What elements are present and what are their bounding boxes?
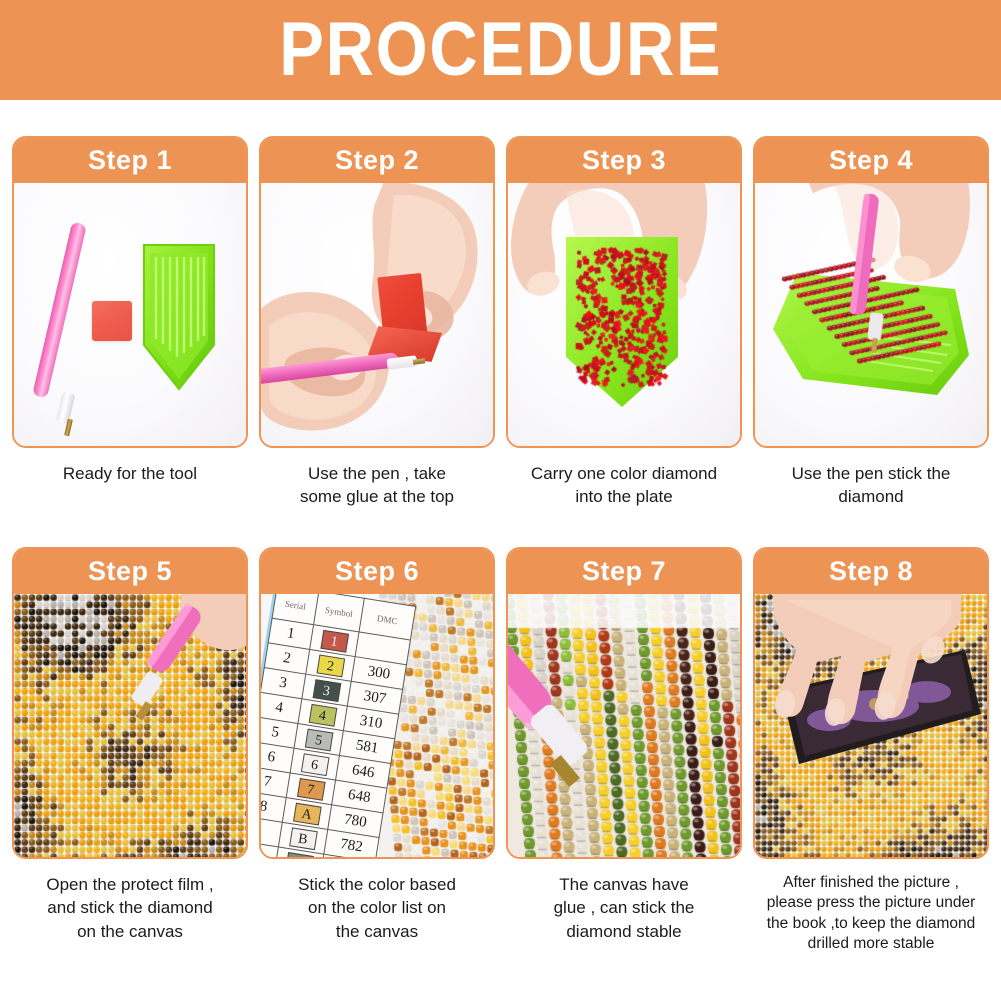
- hands-icon: [755, 594, 987, 857]
- red-diamonds-icon: [564, 235, 680, 411]
- step-caption-3: Carry one color diamond into the plate: [506, 462, 742, 509]
- step-cell-6: Step 6 Serial Symbol: [259, 547, 495, 955]
- step-header-2: Step 2: [261, 138, 493, 183]
- page-banner: PROCEDURE: [0, 0, 1001, 100]
- steps-grid: Step 1: [0, 136, 1001, 955]
- step-cell-1: Step 1: [12, 136, 248, 509]
- step-label-6: Step 6: [335, 556, 419, 587]
- step-header-4: Step 4: [755, 138, 987, 183]
- step-image-7: [508, 594, 740, 857]
- step-label-4: Step 4: [829, 145, 913, 176]
- step-cell-4: Step 4: [753, 136, 989, 509]
- step-image-2: [261, 183, 493, 446]
- step-card-5[interactable]: Step 5: [12, 547, 248, 859]
- step-label-5: Step 5: [88, 556, 172, 587]
- step-card-7[interactable]: Step 7: [506, 547, 742, 859]
- step-caption-4: Use the pen stick the diamond: [753, 462, 989, 509]
- pink-pen-icon: [14, 594, 246, 857]
- step-card-6[interactable]: Step 6 Serial Symbol: [259, 547, 495, 859]
- step-header-5: Step 5: [14, 549, 246, 594]
- pink-pen-icon: [508, 594, 740, 857]
- step-cell-8: Step 8: [753, 547, 989, 955]
- step-cell-3: Step 3: [506, 136, 742, 509]
- step-header-1: Step 1: [14, 138, 246, 183]
- step-caption-1: Ready for the tool: [12, 462, 248, 485]
- step-header-7: Step 7: [508, 549, 740, 594]
- step-image-4: [755, 183, 987, 446]
- step-caption-8: After finished the picture , please pres…: [753, 873, 989, 955]
- step-header-8: Step 8: [755, 549, 987, 594]
- step-caption-7: The canvas have glue , can stick the dia…: [506, 873, 742, 943]
- step-image-1: [14, 183, 246, 446]
- step-image-6: Serial Symbol DMC 1122300333074431055581…: [261, 594, 493, 857]
- step-cell-5: Step 5: [12, 547, 248, 955]
- step-label-7: Step 7: [582, 556, 666, 587]
- step-label-8: Step 8: [829, 556, 913, 587]
- step-image-5: [14, 594, 246, 857]
- step-caption-2: Use the pen , take some glue at the top: [259, 462, 495, 509]
- step-header-3: Step 3: [508, 138, 740, 183]
- step-caption-6: Stick the color based on the color list …: [259, 873, 495, 943]
- step-card-8[interactable]: Step 8: [753, 547, 989, 859]
- steps-row-1: Step 1: [12, 136, 989, 509]
- step-label-2: Step 2: [335, 145, 419, 176]
- step-cell-7: Step 7 The canvas: [506, 547, 742, 955]
- steps-row-2: Step 5: [12, 547, 989, 955]
- step-image-8: [755, 594, 987, 857]
- hands-icon: [261, 183, 493, 446]
- green-tray-icon: [140, 241, 218, 393]
- step-label-1: Step 1: [88, 145, 172, 176]
- step-label-3: Step 3: [582, 145, 666, 176]
- pink-pen-icon: [755, 183, 987, 446]
- step-card-4[interactable]: Step 4: [753, 136, 989, 448]
- step-header-6: Step 6: [261, 549, 493, 594]
- glue-square-icon: [92, 301, 132, 341]
- page-title: PROCEDURE: [279, 12, 722, 88]
- step-card-2[interactable]: Step 2: [259, 136, 495, 448]
- step-card-1[interactable]: Step 1: [12, 136, 248, 448]
- step-caption-5: Open the protect film , and stick the di…: [12, 873, 248, 943]
- step-cell-2: Step 2: [259, 136, 495, 509]
- step-image-3: [508, 183, 740, 446]
- step-card-3[interactable]: Step 3: [506, 136, 742, 448]
